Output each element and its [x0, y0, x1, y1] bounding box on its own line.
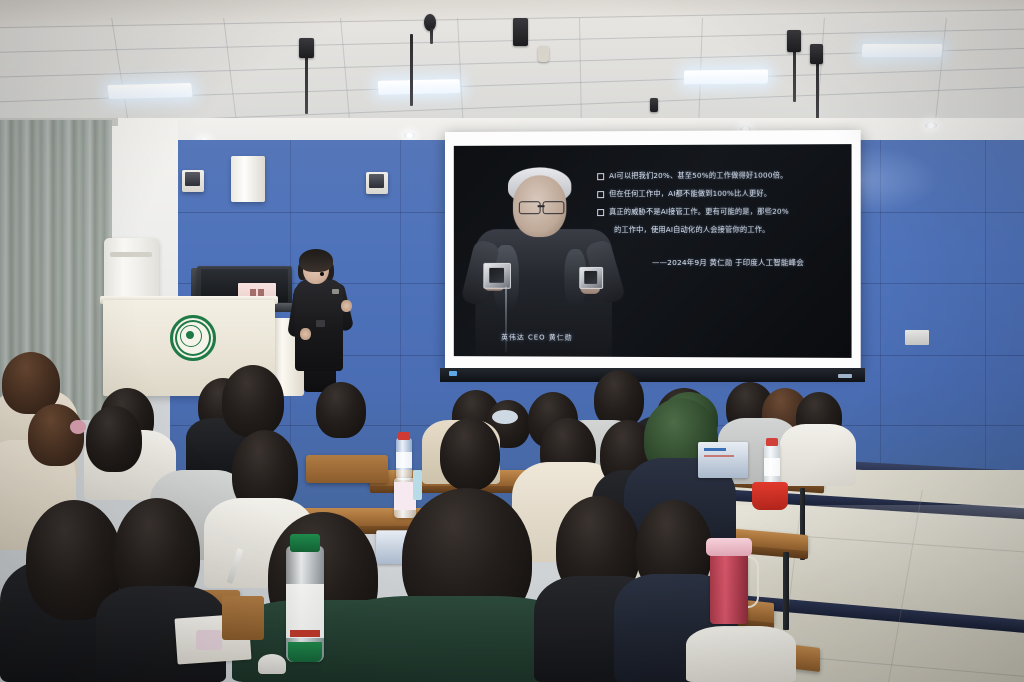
- lecture-hall-photo: AI可以把我们20%、甚至50%的工作做得好1000倍。 但在任何工作中，AI都…: [0, 0, 1024, 682]
- slide-bullet-3: 真正的威胁不是AI接管工作。更有可能的是，那些20%: [597, 207, 789, 217]
- ceiling-light-panel: [378, 79, 461, 95]
- laptop-ui-line: [704, 455, 734, 457]
- presenter-hair: [299, 249, 333, 272]
- laptop-ui-line: [704, 448, 726, 451]
- wall-panel-seam: [985, 140, 986, 515]
- bullet-marker: [597, 191, 604, 198]
- audience-head: [86, 406, 142, 472]
- thermos-strap: [748, 556, 759, 608]
- bottle-cap: [290, 534, 320, 552]
- presenter-jacket-logo: [332, 289, 339, 294]
- screen-bottom-bar: [440, 368, 865, 382]
- ceiling-light-panel: [684, 69, 769, 84]
- slide-attribution: ——2024年9月 黄仁勋 于印度人工智能峰会: [652, 257, 804, 268]
- audience-torso: [686, 626, 796, 682]
- slide-chip-right: [579, 267, 603, 289]
- ac-vent: [110, 252, 152, 257]
- bullet-marker: [597, 209, 604, 216]
- ceiling-sensor: [650, 98, 658, 112]
- hanging-speaker: [513, 18, 528, 46]
- wall-vent-unit: [231, 156, 265, 202]
- bottle-cap: [766, 438, 778, 446]
- projection-screen: AI可以把我们20%、甚至50%的工作做得好1000倍。 但在任何工作中，AI都…: [445, 130, 861, 372]
- wall-outlet: [905, 330, 929, 345]
- smoke-detector: [538, 46, 549, 62]
- chair-back: [306, 455, 388, 483]
- audience-torso: [780, 424, 856, 486]
- presenter-badge: [316, 320, 325, 327]
- downlight: [404, 132, 415, 139]
- bottle-label: [396, 452, 412, 468]
- slide-bullet-3-cont: 的工作中，使用AI自动化的人会接管你的工作。: [614, 225, 770, 235]
- chip-die: [584, 271, 597, 284]
- screen-label-plate: [838, 374, 852, 378]
- chair-arm: [222, 596, 264, 640]
- downlight: [925, 122, 937, 129]
- slide-caption: 英伟达 CEO 黄仁勋: [501, 332, 573, 342]
- desk-item: [258, 654, 286, 674]
- speaker-mount-rod: [410, 34, 413, 106]
- bottle-base: [288, 642, 322, 662]
- audience-head: [316, 382, 366, 438]
- slide-content: AI可以把我们20%、甚至50%的工作做得好1000倍。 但在任何工作中，AI都…: [454, 144, 852, 358]
- hanging-speaker: [299, 38, 314, 58]
- audience-head: [222, 365, 284, 437]
- slide-bullet-1: AI可以把我们20%、甚至50%的工作做得好1000倍。: [597, 171, 787, 182]
- hair-clip: [70, 420, 86, 434]
- presenter-hand-left: [300, 328, 311, 340]
- thermos-bottle: [710, 552, 748, 624]
- bullet-marker: [597, 173, 604, 180]
- camera-mount-rod: [430, 28, 433, 44]
- bottle-strap: [413, 470, 422, 500]
- name-card-glyph: [258, 289, 264, 296]
- name-card-glyph: [250, 289, 256, 296]
- ceiling-light-panel: [107, 83, 192, 99]
- thermos-lid: [706, 538, 752, 556]
- desk-leg: [783, 552, 789, 630]
- notebook-sticker: [196, 630, 222, 650]
- bottle-label: [764, 458, 780, 476]
- slide-person-glasses: [543, 201, 565, 214]
- slide-person-glasses: [519, 201, 541, 214]
- audience-head: [28, 404, 84, 466]
- hanging-speaker: [810, 44, 823, 64]
- red-item: [752, 482, 788, 510]
- slide-bullet-2: 但在任何工作中，AI都不能做到100%比人更好。: [597, 189, 771, 199]
- ceiling-light-panel: [861, 44, 942, 57]
- chip-die: [489, 268, 504, 283]
- hair-tie: [492, 410, 518, 424]
- hanging-speaker: [787, 30, 801, 52]
- audience-head: [440, 418, 500, 490]
- slide-chip-left: [483, 263, 511, 289]
- emblem-center: [186, 331, 194, 339]
- slide-cable: [505, 287, 507, 353]
- presenter-hand-right: [341, 300, 352, 312]
- bottle-cap: [398, 432, 410, 440]
- screen-power-led: [449, 371, 457, 376]
- slide-person-glasses-bridge: [538, 205, 545, 207]
- presenter-microphone: [320, 272, 324, 276]
- bottle-label-text: [290, 630, 320, 637]
- wall-speaker-grill: [369, 174, 384, 188]
- wall-speaker-grill: [185, 172, 200, 186]
